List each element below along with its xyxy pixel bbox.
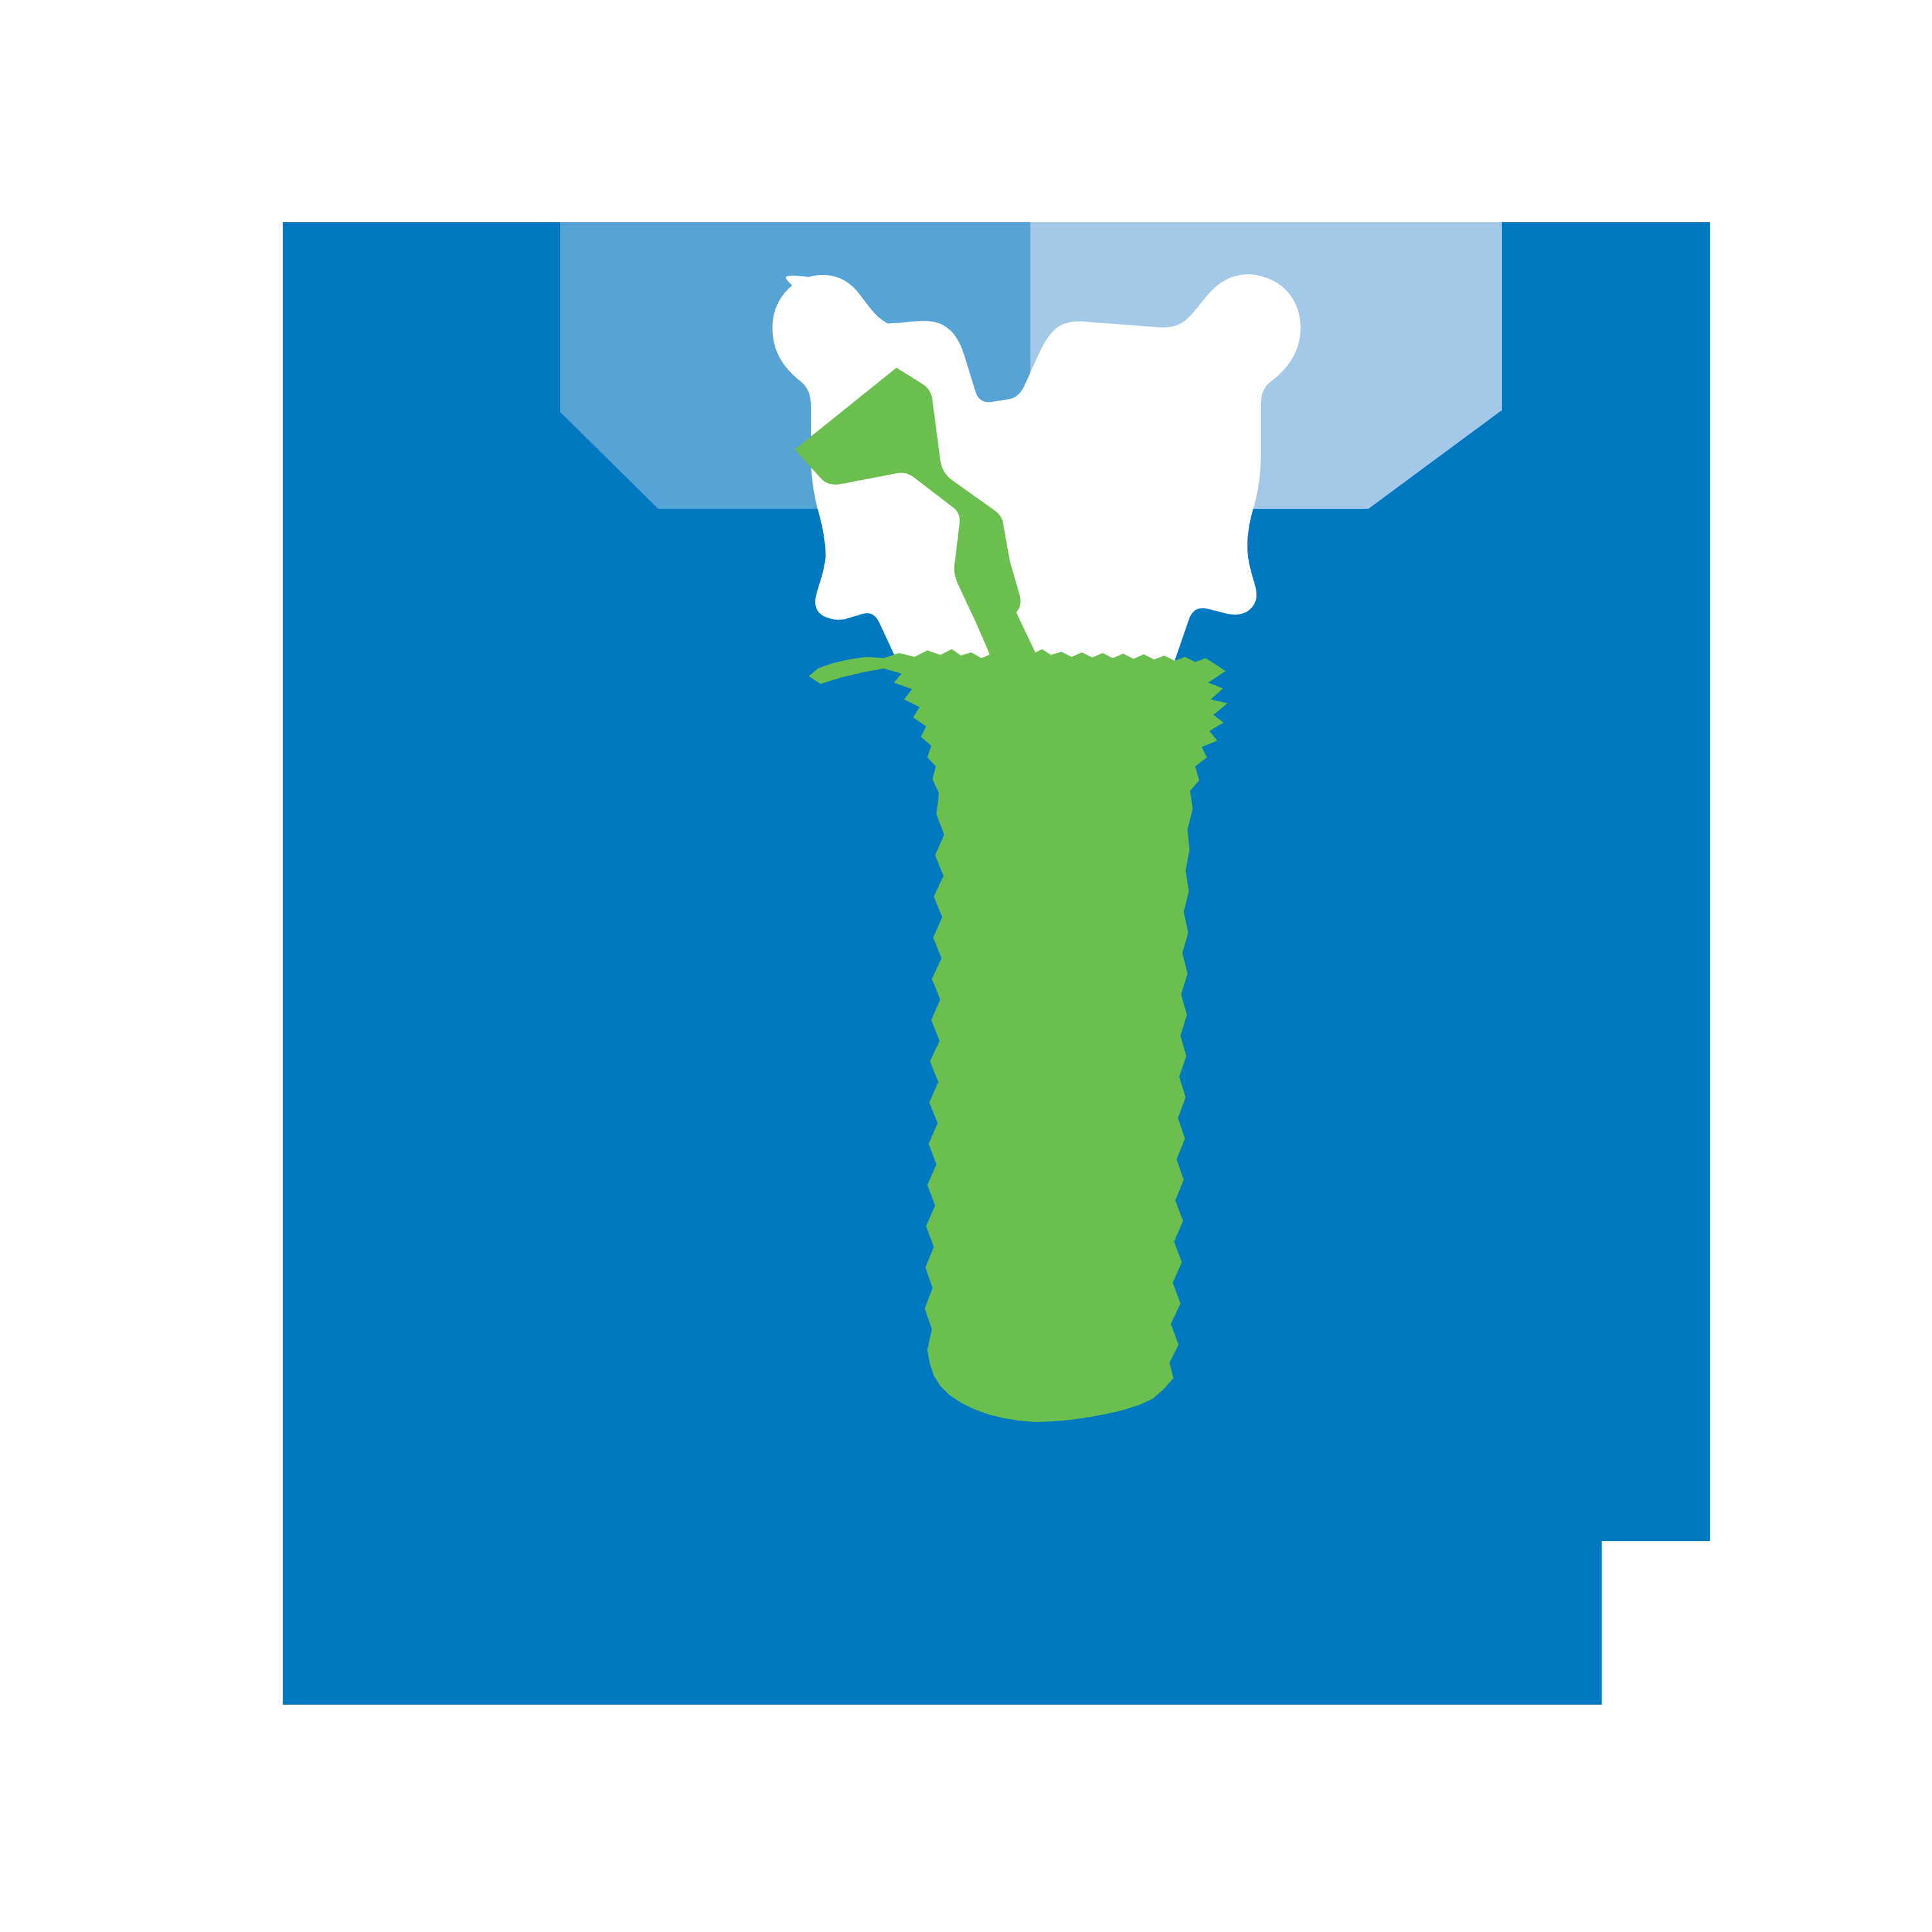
logo-artwork [0,0,1932,1932]
logo-canvas: Mortar and Pestle Logo Mark [0,0,1932,1932]
